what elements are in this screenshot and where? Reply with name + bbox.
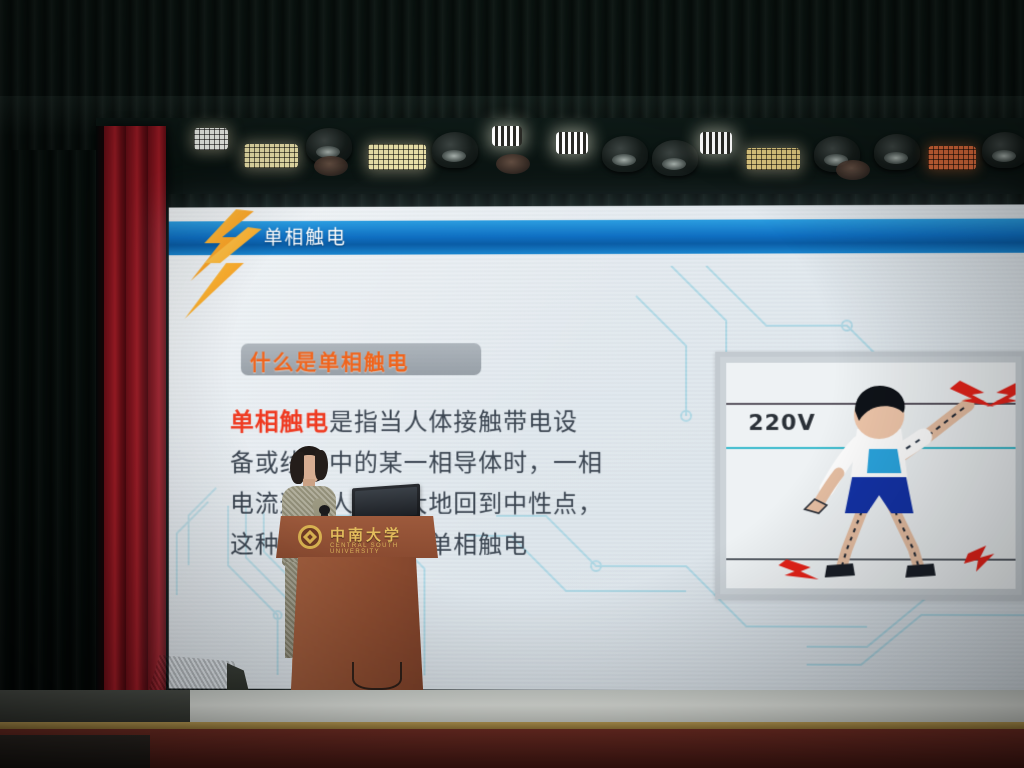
light-housing-icon bbox=[496, 154, 530, 174]
illustration-frame: 220V bbox=[715, 351, 1024, 600]
stage-apron bbox=[0, 729, 1024, 768]
microphone-head-icon bbox=[319, 505, 330, 515]
slide-title: 单相触电 bbox=[264, 223, 347, 250]
led-bulb-cluster-icon bbox=[556, 132, 588, 154]
led-panel-light-icon bbox=[194, 128, 228, 150]
presenter-hair-left bbox=[290, 452, 304, 484]
side-curtain-red bbox=[104, 126, 166, 692]
led-panel-light-icon bbox=[368, 144, 426, 170]
led-panel-light-icon bbox=[746, 148, 800, 170]
power-cable bbox=[352, 662, 402, 690]
light-housing-icon bbox=[314, 156, 348, 176]
moving-head-light-icon bbox=[432, 132, 478, 168]
illustration-canvas: 220V bbox=[726, 362, 1015, 588]
moving-head-light-icon bbox=[602, 136, 648, 172]
moving-head-light-icon bbox=[874, 134, 920, 170]
presenter-hair-right bbox=[315, 450, 328, 480]
body-highlight: 单相触电 bbox=[230, 408, 329, 436]
csu-emblem-icon bbox=[298, 525, 322, 549]
podium-name-en: CENTRAL SOUTH UNIVERSITY bbox=[330, 543, 438, 555]
body-line-1: 是指当人体接触带电设 bbox=[329, 408, 578, 436]
podium-name-cn: 中南大学 bbox=[330, 524, 402, 545]
slide-subheading: 什么是单相触电 bbox=[250, 346, 478, 376]
podium-top-panel: 中南大学 CENTRAL SOUTH UNIVERSITY bbox=[276, 516, 438, 558]
led-bulb-cluster-icon bbox=[700, 132, 732, 154]
stage-scene: 单相触电 什么是单相触电 bbox=[0, 0, 1024, 768]
led-panel-light-icon bbox=[928, 146, 976, 170]
moving-head-light-icon bbox=[982, 132, 1024, 168]
led-bulb-cluster-icon bbox=[492, 126, 522, 146]
lighting-truss bbox=[96, 118, 1024, 194]
shock-figure-illustration bbox=[726, 362, 1015, 588]
led-panel-light-icon bbox=[244, 144, 298, 168]
apron-front-speaker bbox=[0, 735, 150, 768]
moving-head-light-icon bbox=[652, 140, 698, 176]
light-housing-icon bbox=[836, 160, 870, 180]
